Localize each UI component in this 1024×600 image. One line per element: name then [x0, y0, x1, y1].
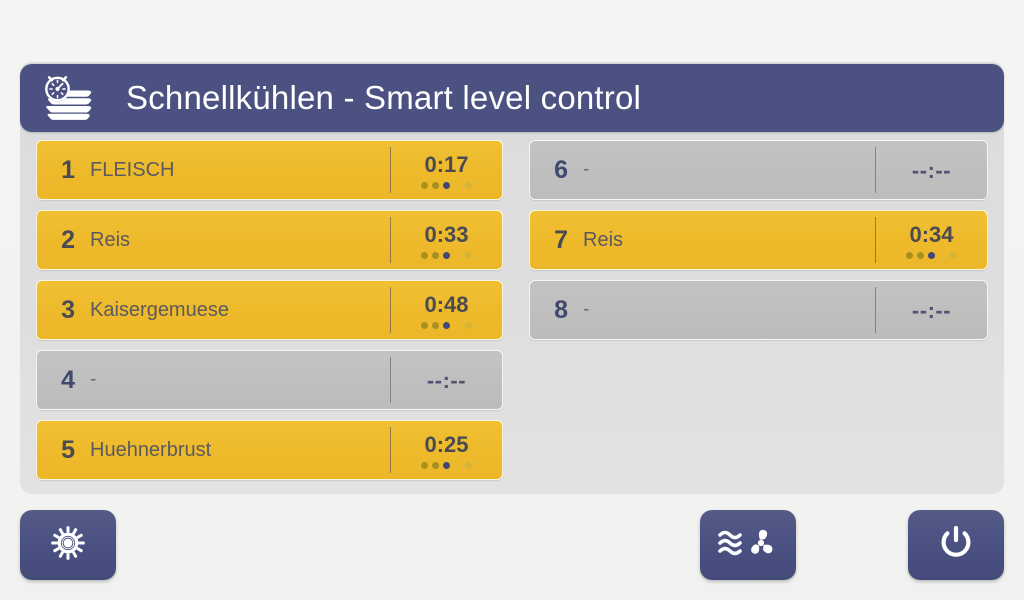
row-time: 0:48: [424, 294, 468, 316]
level-indicator: [421, 252, 472, 259]
cooling-fan-button[interactable]: [700, 510, 796, 580]
program-row[interactable]: 4---:--: [36, 350, 503, 410]
level-dot-off: [454, 252, 461, 259]
row-time-area[interactable]: 0:48: [391, 281, 502, 339]
row-time-area[interactable]: --:--: [876, 141, 987, 199]
row-time: --:--: [912, 300, 951, 322]
row-time: 0:33: [424, 224, 468, 246]
level-dot-filled: [421, 182, 428, 189]
settings-button[interactable]: [20, 510, 116, 580]
level-indicator: [421, 462, 472, 469]
row-number: 4: [37, 351, 77, 409]
row-time-area[interactable]: --:--: [876, 281, 987, 339]
appliance-control-screen: Schnellkühlen - Smart level control 1FLE…: [0, 0, 1024, 600]
level-dot-off: [454, 182, 461, 189]
level-dot-off: [939, 252, 946, 259]
rows-column-right: 6---:--7Reis0:348---:--: [521, 140, 1004, 492]
level-dot-filled: [421, 322, 428, 329]
row-number: 6: [530, 141, 570, 199]
row-time-area[interactable]: 0:25: [391, 421, 502, 479]
row-time-area[interactable]: 0:17: [391, 141, 502, 199]
level-indicator: [421, 322, 472, 329]
row-time: 0:17: [424, 154, 468, 176]
level-dot-filled: [432, 252, 439, 259]
level-dot-filled: [432, 462, 439, 469]
program-rows: 1FLEISCH0:172Reis0:333Kaisergemuese0:484…: [20, 140, 1004, 492]
level-dot-filled: [917, 252, 924, 259]
level-dot-filled: [421, 462, 428, 469]
level-dot-faint: [465, 462, 472, 469]
row-label: Reis: [77, 211, 390, 269]
row-label: Huehnerbrust: [77, 421, 390, 479]
level-dot-off: [454, 462, 461, 469]
level-dot-faint: [950, 252, 957, 259]
row-label: Kaisergemuese: [77, 281, 390, 339]
row-label: -: [570, 281, 875, 339]
level-dot-faint: [465, 252, 472, 259]
row-time: 0:34: [909, 224, 953, 246]
timer-trays-icon: [30, 64, 102, 132]
row-label: FLEISCH: [77, 141, 390, 199]
row-time-area[interactable]: 0:33: [391, 211, 502, 269]
row-label: -: [77, 351, 390, 409]
level-dot-filled: [421, 252, 428, 259]
level-dot-current: [443, 252, 450, 259]
level-indicator: [421, 182, 472, 189]
page-title: Schnellkühlen - Smart level control: [126, 79, 641, 117]
power-button[interactable]: [908, 510, 1004, 580]
program-row[interactable]: 3Kaisergemuese0:48: [36, 280, 503, 340]
row-number: 2: [37, 211, 77, 269]
header-bar: Schnellkühlen - Smart level control: [20, 64, 1004, 132]
program-row[interactable]: 1FLEISCH0:17: [36, 140, 503, 200]
waves-fan-icon: [716, 523, 780, 568]
program-row[interactable]: 6---:--: [529, 140, 988, 200]
program-row[interactable]: 5Huehnerbrust0:25: [36, 420, 503, 480]
row-time: 0:25: [424, 434, 468, 456]
level-dot-filled: [432, 322, 439, 329]
row-number: 1: [37, 141, 77, 199]
level-dot-filled: [906, 252, 913, 259]
row-time: --:--: [427, 370, 466, 392]
level-dot-off: [454, 322, 461, 329]
row-label: -: [570, 141, 875, 199]
level-dot-current: [443, 182, 450, 189]
row-number: 7: [530, 211, 570, 269]
row-number: 3: [37, 281, 77, 339]
program-row[interactable]: 8---:--: [529, 280, 988, 340]
level-dot-current: [443, 322, 450, 329]
program-row[interactable]: 7Reis0:34: [529, 210, 988, 270]
level-dot-current: [443, 462, 450, 469]
rows-column-left: 1FLEISCH0:172Reis0:333Kaisergemuese0:484…: [20, 140, 503, 492]
gear-icon: [49, 524, 87, 567]
level-dot-faint: [465, 322, 472, 329]
power-icon: [936, 523, 976, 568]
row-number: 8: [530, 281, 570, 339]
program-row[interactable]: 2Reis0:33: [36, 210, 503, 270]
row-number: 5: [37, 421, 77, 479]
level-dot-current: [928, 252, 935, 259]
level-dot-filled: [432, 182, 439, 189]
level-dot-faint: [465, 182, 472, 189]
row-time: --:--: [912, 160, 951, 182]
row-time-area[interactable]: 0:34: [876, 211, 987, 269]
level-indicator: [906, 252, 957, 259]
row-label: Reis: [570, 211, 875, 269]
row-time-area[interactable]: --:--: [391, 351, 502, 409]
